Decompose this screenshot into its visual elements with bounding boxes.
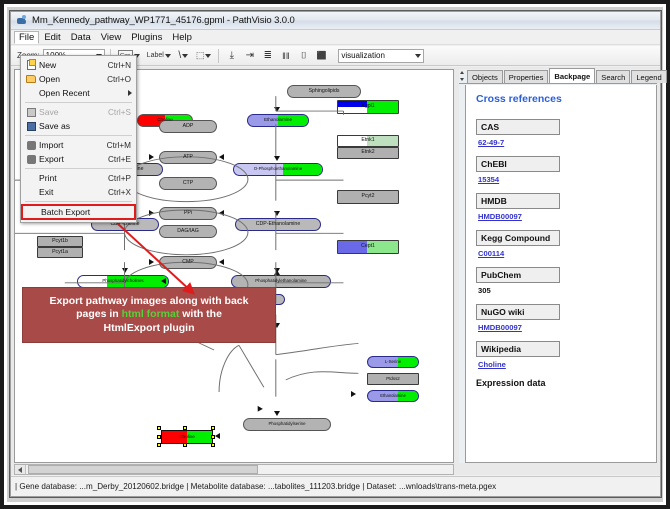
callout-line-2-a: pages in [76,308,122,320]
menu-divider [25,168,132,169]
label-tool-label: Label [147,52,164,59]
tab-properties[interactable]: Properties [504,70,549,83]
scroll-left-icon[interactable] [15,465,26,474]
pathway-node-atp[interactable]: ATP [159,151,217,164]
pathvisio-application-window: Mm_Kennedy_pathway_WP1771_45176.gpml - P… [9,10,662,498]
pathway-node-ppi[interactable]: PPi [159,207,217,220]
menu-item-accelerator: Ctrl+P [108,174,136,183]
submenu-arrow-icon [128,90,132,96]
import-icon [23,141,39,150]
menu-item-label: Save [39,107,108,117]
menu-item-accelerator: Ctrl+N [108,61,136,70]
selection-handle-w[interactable] [157,435,161,439]
stack-button[interactable]: ≣ [260,48,275,63]
xref-field-hmdb: HMDB [476,193,560,209]
menu-bar: File Edit Data View Plugins Help [11,30,660,45]
chevron-down-icon [415,54,421,58]
file-menu-item-import[interactable]: Import Ctrl+M [21,138,136,152]
menu-item-label: New [39,60,108,70]
stack-icon: ≣ [264,50,272,61]
edge-arrow [274,107,280,112]
tab-objects[interactable]: Objects [467,70,503,83]
edge-arrow [122,268,128,273]
edge-arrow [149,154,154,160]
tab-scroll-spinner[interactable] [460,71,465,81]
pathway-node-cmp[interactable]: CMP [159,256,217,269]
pathway-node-pcyt2[interactable]: Pcyt2 [337,190,399,204]
annotation-callout: Export pathway images along with back pa… [22,287,276,343]
xref-field-pubchem: PubChem [476,267,560,283]
size-icon: ⌷ [301,50,306,61]
menu-item-label: Import [39,140,107,150]
pathway-node-ctp[interactable]: CTP [159,177,217,190]
node-label: ADP [183,124,194,129]
align-left-button[interactable]: ⇥ [242,48,257,63]
menu-item-label: Save as [39,121,131,131]
align-left-icon: ⇥ [246,50,254,61]
node-label: CTP [183,181,193,186]
edge-arrow [274,211,280,216]
file-menu-item-save-as[interactable]: Save as [21,119,136,133]
pathway-node-ethanolamine-top[interactable]: Ethanolamine [247,114,309,127]
menu-item-accelerator: Ctrl+M [107,141,136,150]
scrollbar-thumb[interactable] [28,465,258,474]
edge-arrow [351,391,356,397]
selection-handle-ne[interactable] [211,426,215,430]
tab-backpage[interactable]: Backpage [549,68,595,83]
pathway-node-dag-iag[interactable]: DAG/IAG [159,225,217,238]
selection-handle-se[interactable] [211,443,215,447]
file-menu-item-open[interactable]: Open Ctrl+O [21,72,136,86]
side-panel-tabs: Objects Properties Backpage Search Legen… [459,69,657,84]
node-label: Sgpl1 [361,104,374,109]
callout-line-3: HtmlExport plugin [104,322,195,336]
xref-link-cas[interactable]: 62-49-7 [478,138,646,147]
canvas-horizontal-scrollbar[interactable] [14,464,454,475]
node-label: Ethanolamine [264,118,292,123]
xref-field-cas: CAS [476,119,560,135]
new-file-icon [23,60,39,70]
menu-item-label: Open [39,74,107,84]
chevron-down-icon[interactable] [205,54,211,58]
node-label: Choline [179,435,195,440]
node-label: CDP-Ethanolamine [256,222,300,227]
node-label: Etnk2 [361,150,374,155]
pathway-node-etnk1[interactable]: Etnk1 [337,135,399,147]
backpage-panel: Cross references CAS 62-49-7 ChEBI 15354… [465,85,657,463]
menu-item-label: Exit [39,187,108,197]
status-bar: | Gene database: ...m_Derby_20120602.bri… [11,476,660,496]
edge-arrow [149,210,154,216]
selection-handle-n[interactable] [183,426,187,430]
file-menu-item-print[interactable]: Print Ctrl+P [21,171,136,185]
file-menu-item-exit[interactable]: Exit Ctrl+X [21,185,136,199]
line-icon: \ [178,50,181,61]
edge-arrow [219,210,224,216]
node-label: CMP [182,260,194,265]
export-icon [23,155,39,164]
menu-plugins[interactable]: Plugins [126,31,167,44]
line-tool-button[interactable]: \ [176,48,191,63]
menu-item-accelerator: Ctrl+X [108,188,136,197]
pathway-node-cept1[interactable]: Cept1 [337,240,399,254]
order-icon: ⬛ [317,51,327,60]
node-label: DAG/IAG [177,229,199,234]
edge-arrow [219,154,224,160]
file-menu-item-export[interactable]: Export Ctrl+E [21,152,136,166]
shape-icon: ⬚ [196,50,205,61]
file-menu-item-new[interactable]: New Ctrl+N [21,58,136,72]
node-label: Pcyt1a [52,250,68,255]
xref-field-kegg-compound: Kegg Compound [476,230,560,246]
screenshot-root: Mm_Kennedy_pathway_WP1771_45176.gpml - P… [0,0,670,509]
node-label: O-Phosphoethanolamine [254,167,303,171]
callout-line-1: Export pathway images along with back [50,295,249,309]
xref-link-nugo-wiki[interactable]: HMDB00097 [478,323,646,332]
node-label: L-Serine [385,360,402,364]
menu-item-accelerator: Ctrl+S [108,108,136,117]
expression-data-heading: Expression data [476,378,646,388]
node-label: Sphingolipids [309,89,340,94]
node-label: Ethanolamine [380,394,406,398]
pathway-node-sphingolipids[interactable]: Sphingolipids [287,85,361,98]
menu-divider [25,135,132,136]
shape-tool-button[interactable]: ⬚ [194,48,214,63]
selection-handle-s[interactable] [183,443,187,447]
menu-item-accelerator: Ctrl+O [107,75,136,84]
callout-line-2-b: with the [179,308,222,320]
node-label: Phosphatidylethanolamine [255,279,307,283]
visualization-value: visualization [341,51,385,60]
align-top-icon: ⤓ [230,50,234,61]
xref-link-hmdb[interactable]: HMDB00097 [478,212,646,221]
node-label: Ptdss2 [386,377,399,381]
pathway-node-cdp-ethanolamine[interactable]: CDP-Ethanolamine [235,218,321,231]
xref-link-chebi[interactable]: 15354 [478,175,646,184]
pathway-node-ptdss2[interactable]: Ptdss2 [367,373,419,385]
callout-highlight-html-format: html format [122,308,180,320]
xref-value-pubchem: 305 [478,286,646,295]
xref-field-nugo-wiki: NuGO wiki [476,304,560,320]
edge-arrow [219,259,224,265]
node-label: PPi [184,211,192,216]
edge-arrow [215,433,220,439]
node-label: Phosphatidylserine [268,422,305,426]
menu-item-label: Batch Export [41,207,134,217]
menu-file[interactable]: File [14,31,39,44]
node-label: ATP [183,155,193,160]
label-tool-button[interactable]: Label [145,48,173,63]
align-top-button[interactable]: ⤓ [224,48,239,63]
menu-view[interactable]: View [96,31,126,44]
xref-field-chebi: ChEBI [476,156,560,172]
size-button[interactable]: ⌷ [296,48,311,63]
pathway-node-sgpl1[interactable]: Sgpl1 [337,100,399,114]
edge-arrow [161,278,166,284]
pathway-node-etnk2[interactable]: Etnk2 [337,147,399,159]
menu-item-accelerator: Ctrl+E [108,155,136,164]
visualization-combo[interactable]: visualization [338,49,424,63]
status-text: | Gene database: ...m_Derby_20120602.bri… [15,482,496,491]
distribute-button[interactable]: ‖‖ [278,48,293,63]
menu-data[interactable]: Data [66,31,96,44]
backpage-title: Cross references [476,93,646,105]
selection-handle-nw[interactable] [157,426,161,430]
menu-item-label: Export [39,154,108,164]
pathway-node-choline-selected[interactable]: Choline [161,430,213,444]
chevron-down-icon[interactable] [182,54,188,58]
tab-legend[interactable]: Legend [631,70,666,83]
menu-help[interactable]: Help [167,31,197,44]
xref-field-wikipedia: Wikipedia [476,341,560,357]
save-disk-icon [23,108,39,117]
menu-divider [25,102,132,103]
xref-link-kegg-compound[interactable]: C00114 [478,249,646,258]
window-title: Mm_Kennedy_pathway_WP1771_45176.gpml - P… [32,15,295,26]
pathway-node-ethanolamine-right[interactable]: Ethanolamine [367,390,419,402]
side-panel: Objects Properties Backpage Search Legen… [459,69,657,463]
edge-arrow [274,156,280,161]
node-label: Phosphatidylcholines [102,279,143,283]
pathway-node-o-phosphoethanolamine[interactable]: O-Phosphoethanolamine [233,163,323,176]
chevron-down-icon[interactable] [165,54,171,58]
xref-link-wikipedia[interactable]: Choline [478,360,646,369]
menu-item-label: Print [39,173,108,183]
pathway-node-pcyt1b[interactable]: Pcyt1b [37,236,83,247]
edge-arrow [149,259,154,265]
callout-line-2: pages in html format with the [76,308,222,322]
open-folder-icon [23,75,39,83]
node-label: Pcyt1b [52,239,68,244]
file-menu-item-save: Save Ctrl+S [21,105,136,119]
pathway-node-pcyt1a[interactable]: Pcyt1a [37,247,83,258]
title-bar: Mm_Kennedy_pathway_WP1771_45176.gpml - P… [11,12,660,30]
edge-arrow [255,406,263,413]
edge-arrow [274,270,280,275]
node-label: Cept1 [361,244,375,249]
distribute-icon: ‖‖ [282,51,289,61]
pathway-node-l-serine[interactable]: L-Serine [367,356,419,368]
file-menu-item-batch-export[interactable]: Batch Export [21,204,136,220]
tab-search[interactable]: Search [596,70,630,83]
file-menu-popup[interactable]: New Ctrl+N Open Ctrl+O Open Recent Save … [20,55,137,223]
menu-edit[interactable]: Edit [39,31,65,44]
application-icon [16,15,27,26]
node-label: Choline [157,118,173,123]
menu-item-label: Open Recent [39,88,128,98]
order-button[interactable]: ⬛ [314,48,329,63]
node-label: Etnk1 [361,138,374,143]
menu-divider [25,201,132,202]
node-label: Pcyt2 [362,194,375,199]
save-as-icon [23,122,39,131]
file-menu-item-open-recent[interactable]: Open Recent [21,86,136,100]
toolbar-divider [218,49,219,63]
pathway-node-phosphatidylserine[interactable]: Phosphatidylserine [243,418,331,431]
edge-arrow [274,411,280,416]
selection-handle-sw[interactable] [157,443,161,447]
